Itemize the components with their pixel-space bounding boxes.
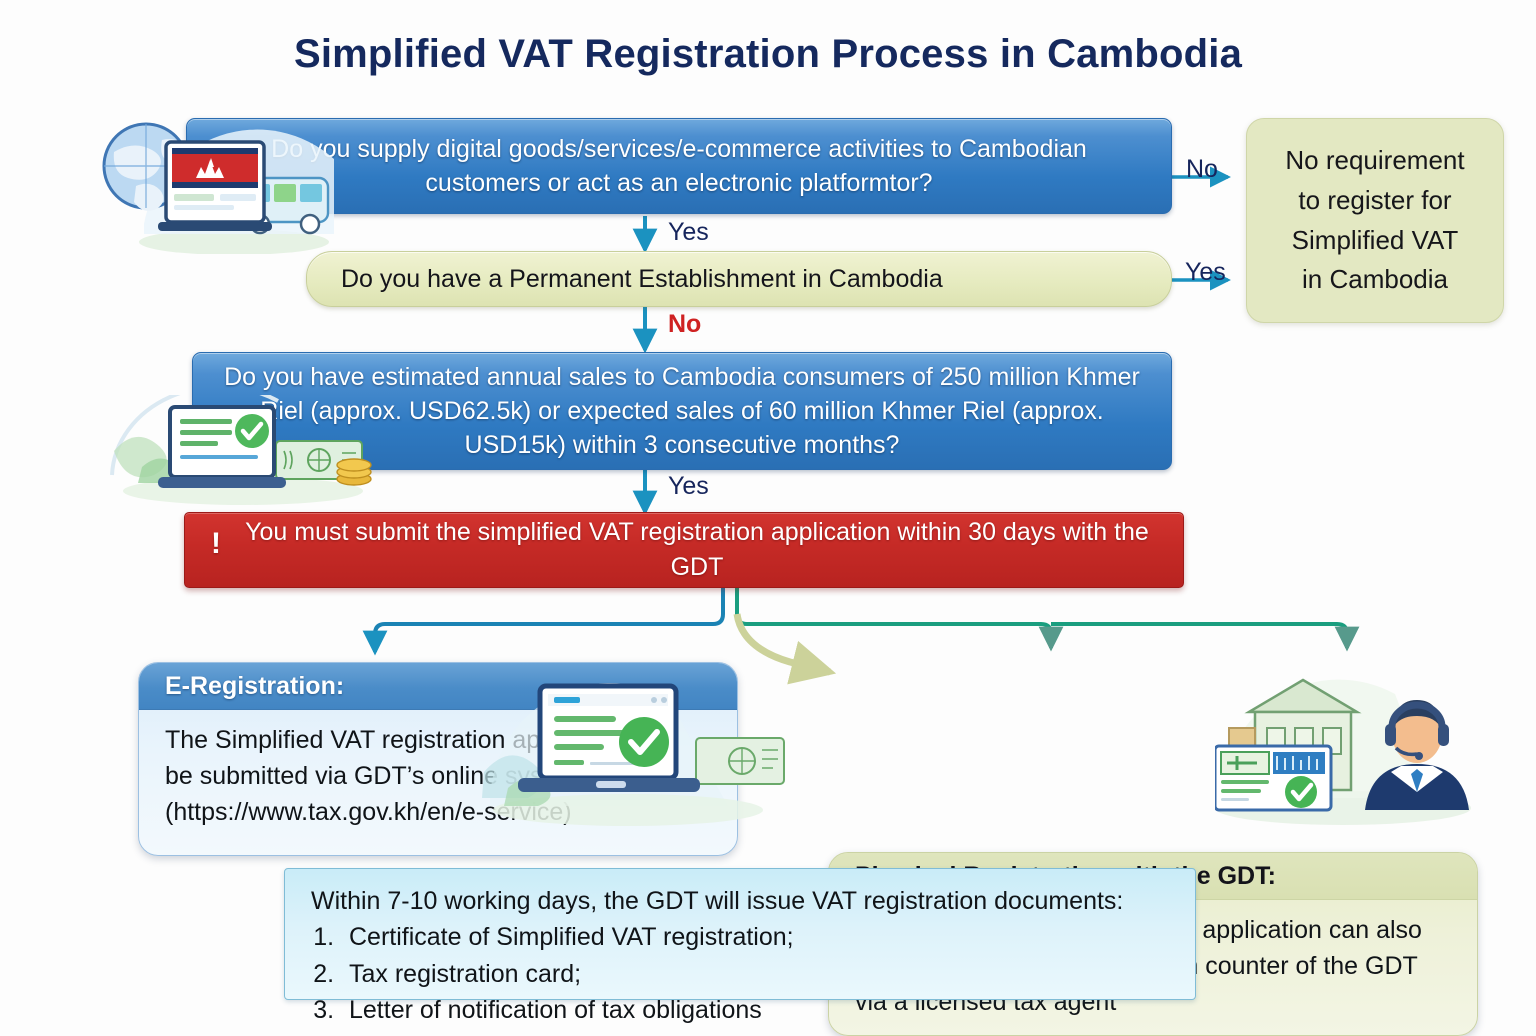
question-3-box[interactable]: Do you have estimated annual sales to Ca… [192,352,1172,470]
edge-alert-physical-2 [1051,624,1347,648]
summary-item-1: Certificate of Simplified VAT registrati… [341,919,1169,955]
edge-label-q2-no: No [668,310,701,339]
exclamation-icon: ! [211,523,221,565]
edge-label-q2-yes: Yes [1185,258,1226,287]
edge-label-q3-yes: Yes [668,472,709,501]
question-2-box[interactable]: Do you have a Permanent Establishment in… [306,251,1172,307]
summary-list: Certificate of Simplified VAT registrati… [311,919,1169,1028]
deadline-alert-text: You must submit the simplified VAT regis… [237,515,1157,585]
edge-label-q1-yes: Yes [668,218,709,247]
branch-e-registration-heading: E-Registration: [139,663,737,710]
summary-item-2: Tax registration card; [341,956,1169,992]
government-building-agent-headset-document-illustration [1215,672,1485,832]
branch-e-registration-body: The Simplified VAT registration applicat… [139,710,737,848]
page-title: Simplified VAT Registration Process in C… [0,32,1536,77]
no-requirement-result-box[interactable]: No requirement to register for Simplifie… [1246,118,1504,323]
edge-alert-physical-diagonal [737,614,830,672]
edge-alert-physical-1 [737,588,1051,648]
question-1-box[interactable]: Do you supply digital goods/services/e-c… [186,118,1172,214]
question-1-text: Do you supply digital goods/services/e-c… [213,132,1145,200]
question-2-text: Do you have a Permanent Establishment in… [341,265,943,294]
edge-alert-eregistration [375,588,723,652]
no-requirement-line-3: Simplified VAT [1292,221,1459,261]
no-requirement-line-1: No requirement [1285,141,1464,181]
edge-label-q1-no: No [1186,155,1218,184]
summary-item-3: Letter of notification of tax obligation… [341,992,1169,1028]
no-requirement-line-4: in Cambodia [1302,260,1448,300]
deadline-alert-box[interactable]: ! You must submit the simplified VAT reg… [184,512,1184,588]
issued-documents-summary-box[interactable]: Within 7-10 working days, the GDT will i… [284,868,1196,1000]
infographic-canvas: Simplified VAT Registration Process in C… [0,0,1536,1024]
branch-e-registration-card[interactable]: E-Registration: The Simplified VAT regis… [138,662,738,856]
question-3-text: Do you have estimated annual sales to Ca… [219,360,1145,462]
summary-intro: Within 7-10 working days, the GDT will i… [311,883,1169,919]
no-requirement-line-2: to register for [1298,181,1451,221]
